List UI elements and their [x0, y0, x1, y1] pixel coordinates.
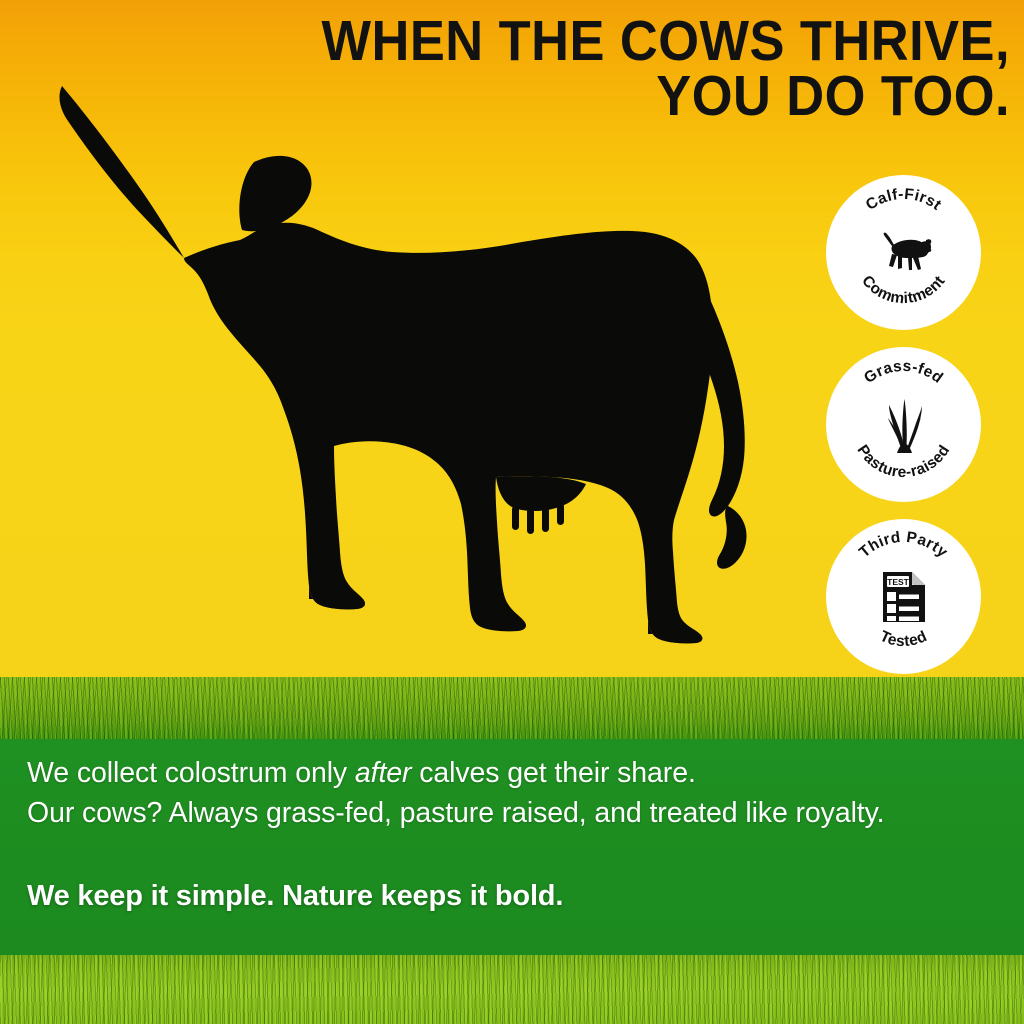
- tagline: We keep it simple. Nature keeps it bold.: [27, 880, 563, 913]
- grass-texture-band-top: [0, 677, 1024, 739]
- cow-silhouette-icon: [44, 78, 784, 658]
- grass-texture-band-bottom: [0, 955, 1024, 1024]
- promotional-poster: WHEN THE COWS THRIVE, YOU DO TOO.: [0, 0, 1024, 1024]
- message-panel: We collect colostrum only after calves g…: [0, 739, 1024, 955]
- badge-third-party-tested[interactable]: Third Party Tested TEST: [826, 519, 981, 674]
- test-label: TEST: [887, 577, 910, 587]
- body-copy: We collect colostrum only after calves g…: [27, 753, 884, 834]
- body-copy-line-1-part-2: calves get their share.: [411, 757, 695, 789]
- body-copy-line-1-part-1: We collect colostrum only: [27, 757, 355, 789]
- leaping-calf-icon: [826, 175, 981, 330]
- badge-grass-fed-pasture-raised[interactable]: Grass-fed Pasture-raised: [826, 347, 981, 502]
- body-copy-line-1: We collect colostrum only after calves g…: [27, 753, 884, 793]
- body-copy-emphasis: after: [355, 757, 412, 789]
- headline-line-1: WHEN THE COWS THRIVE,: [265, 14, 1010, 69]
- body-copy-line-2: Our cows? Always grass-fed, pasture rais…: [27, 793, 884, 833]
- trust-badge-group: Calf-First Commitment: [826, 175, 982, 691]
- grass-tuft-icon: [826, 347, 981, 502]
- badge-calf-first-commitment[interactable]: Calf-First Commitment: [826, 175, 981, 330]
- test-document-icon: TEST: [826, 519, 981, 674]
